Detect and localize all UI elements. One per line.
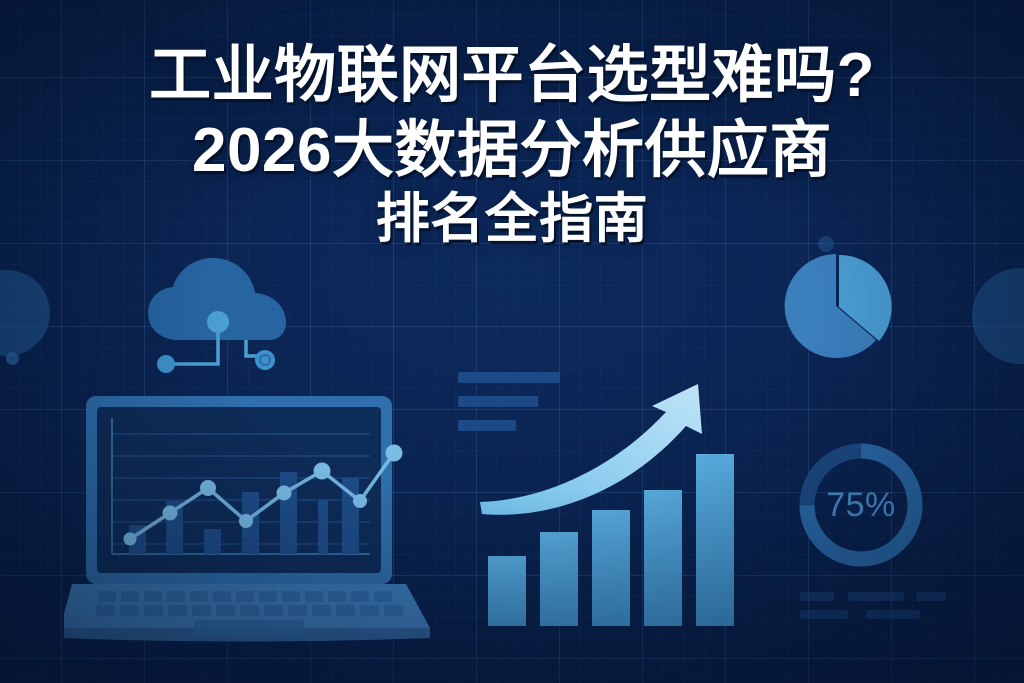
footer-bar-3: [916, 592, 946, 601]
footer-bar-1: [800, 592, 834, 601]
progress-donut: 75%: [794, 438, 928, 572]
poster-canvas: 75% 工业物联网平台选型难吗? 2026大数据分析供应商 排名全指南: [0, 0, 1024, 683]
title-line-1: 工业物联网平台选型难吗?: [0, 44, 1024, 107]
footer-bar-5: [866, 610, 920, 619]
growth-bar-chart: [470, 368, 760, 630]
footer-bar-2: [848, 592, 904, 601]
title-block: 工业物联网平台选型难吗? 2026大数据分析供应商 排名全指南: [0, 44, 1024, 248]
pie-chart: [776, 252, 900, 362]
footer-bar-4: [800, 610, 848, 619]
laptop-illustration: [64, 392, 434, 644]
decorative-blob-left-small: [6, 352, 19, 365]
cloud-network-icon: [134, 252, 310, 386]
title-line-2: 2026大数据分析供应商: [0, 119, 1024, 182]
donut-value-label: 75%: [794, 438, 928, 572]
footer-placeholder-bars: [800, 592, 980, 632]
title-line-3: 排名全指南: [0, 192, 1024, 247]
